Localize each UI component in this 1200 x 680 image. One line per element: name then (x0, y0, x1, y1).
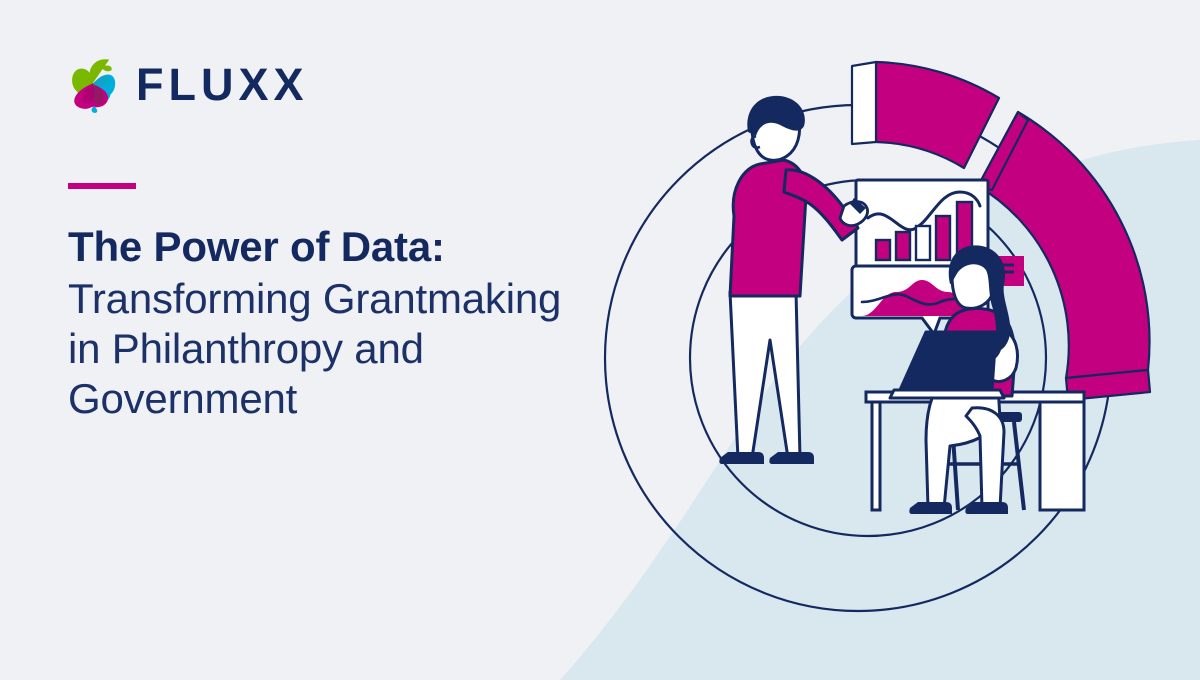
subtitle-line-2: in Philanthropy and (68, 324, 678, 374)
hero-illustration (600, 40, 1200, 680)
page-subtitle: Transforming Grantmaking in Philanthropy… (68, 274, 678, 425)
laptop (890, 332, 1004, 398)
subtitle-line-3: Government (68, 374, 678, 424)
brand-wordmark: FLUXX (136, 62, 309, 107)
brand-logo[interactable]: FLUXX (64, 55, 309, 113)
subtitle-line-1: Transforming Grantmaking (68, 274, 678, 324)
page-title: The Power of Data: (68, 222, 678, 272)
promo-banner: FLUXX The Power of Data: Transforming Gr… (0, 0, 1200, 680)
accent-rule (68, 183, 136, 189)
magenta-pie-segment-upper (852, 62, 999, 168)
fluxx-pinwheel-icon (64, 55, 122, 113)
headline-block: The Power of Data: Transforming Grantmak… (68, 222, 678, 425)
person-presenting (719, 96, 867, 464)
